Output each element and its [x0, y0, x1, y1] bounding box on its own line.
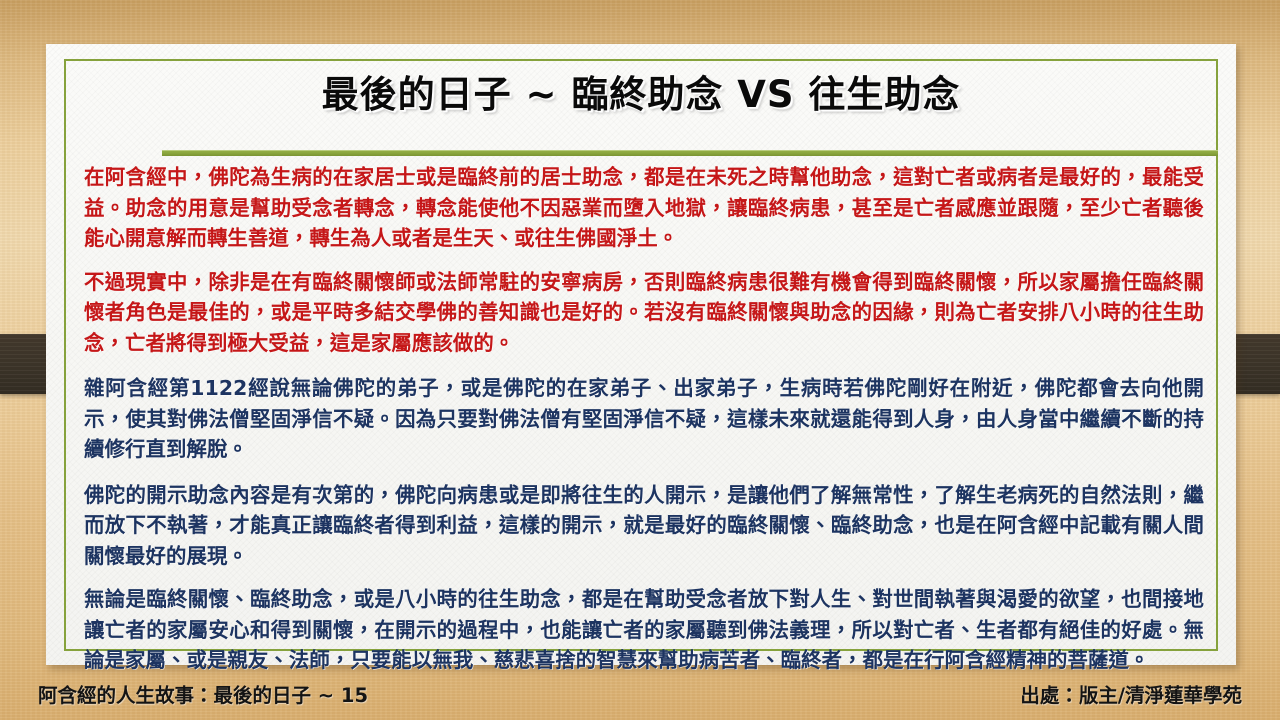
- paragraph-4: 佛陀的開示助念內容是有次第的，佛陀向病患或是即將往生的人開示，是讓他們了解無常性…: [84, 480, 1204, 572]
- paragraph-3: 雜阿含經第1122經說無論佛陀的弟子，或是佛陀的在家弟子、出家弟子，生病時若佛陀…: [84, 373, 1204, 465]
- footer-source-left: 阿含經的人生故事：最後的日子 ~ 15: [38, 679, 368, 708]
- slide-canvas: 最後的日子 ~ 臨終助念 VS 往生助念 在阿含經中，佛陀為生病的在家居士或是臨…: [0, 0, 1280, 720]
- body-text-block: 在阿含經中，佛陀為生病的在家居士或是臨終前的居士助念，都是在未死之時幫他助念，這…: [84, 116, 1204, 636]
- page-title: 最後的日子 ~ 臨終助念 VS 往生助念: [322, 64, 961, 118]
- paragraph-2: 不過現實中，除非是在有臨終關懷師或法師常駐的安寧病房，否則臨終病患很難有機會得到…: [84, 267, 1204, 359]
- paragraph-5: 無論是臨終關懷、臨終助念，或是八小時的往生助念，都是在幫助受念者放下對人生、對世…: [84, 584, 1204, 676]
- footer-source-right: 出處：版主/清淨蓮華學苑: [1020, 679, 1242, 708]
- paragraph-1: 在阿含經中，佛陀為生病的在家居士或是臨終前的居士助念，都是在未死之時幫他助念，這…: [84, 162, 1204, 254]
- content-card: 最後的日子 ~ 臨終助念 VS 往生助念 在阿含經中，佛陀為生病的在家居士或是臨…: [46, 44, 1236, 665]
- title-container: 最後的日子 ~ 臨終助念 VS 往生助念: [64, 60, 1218, 122]
